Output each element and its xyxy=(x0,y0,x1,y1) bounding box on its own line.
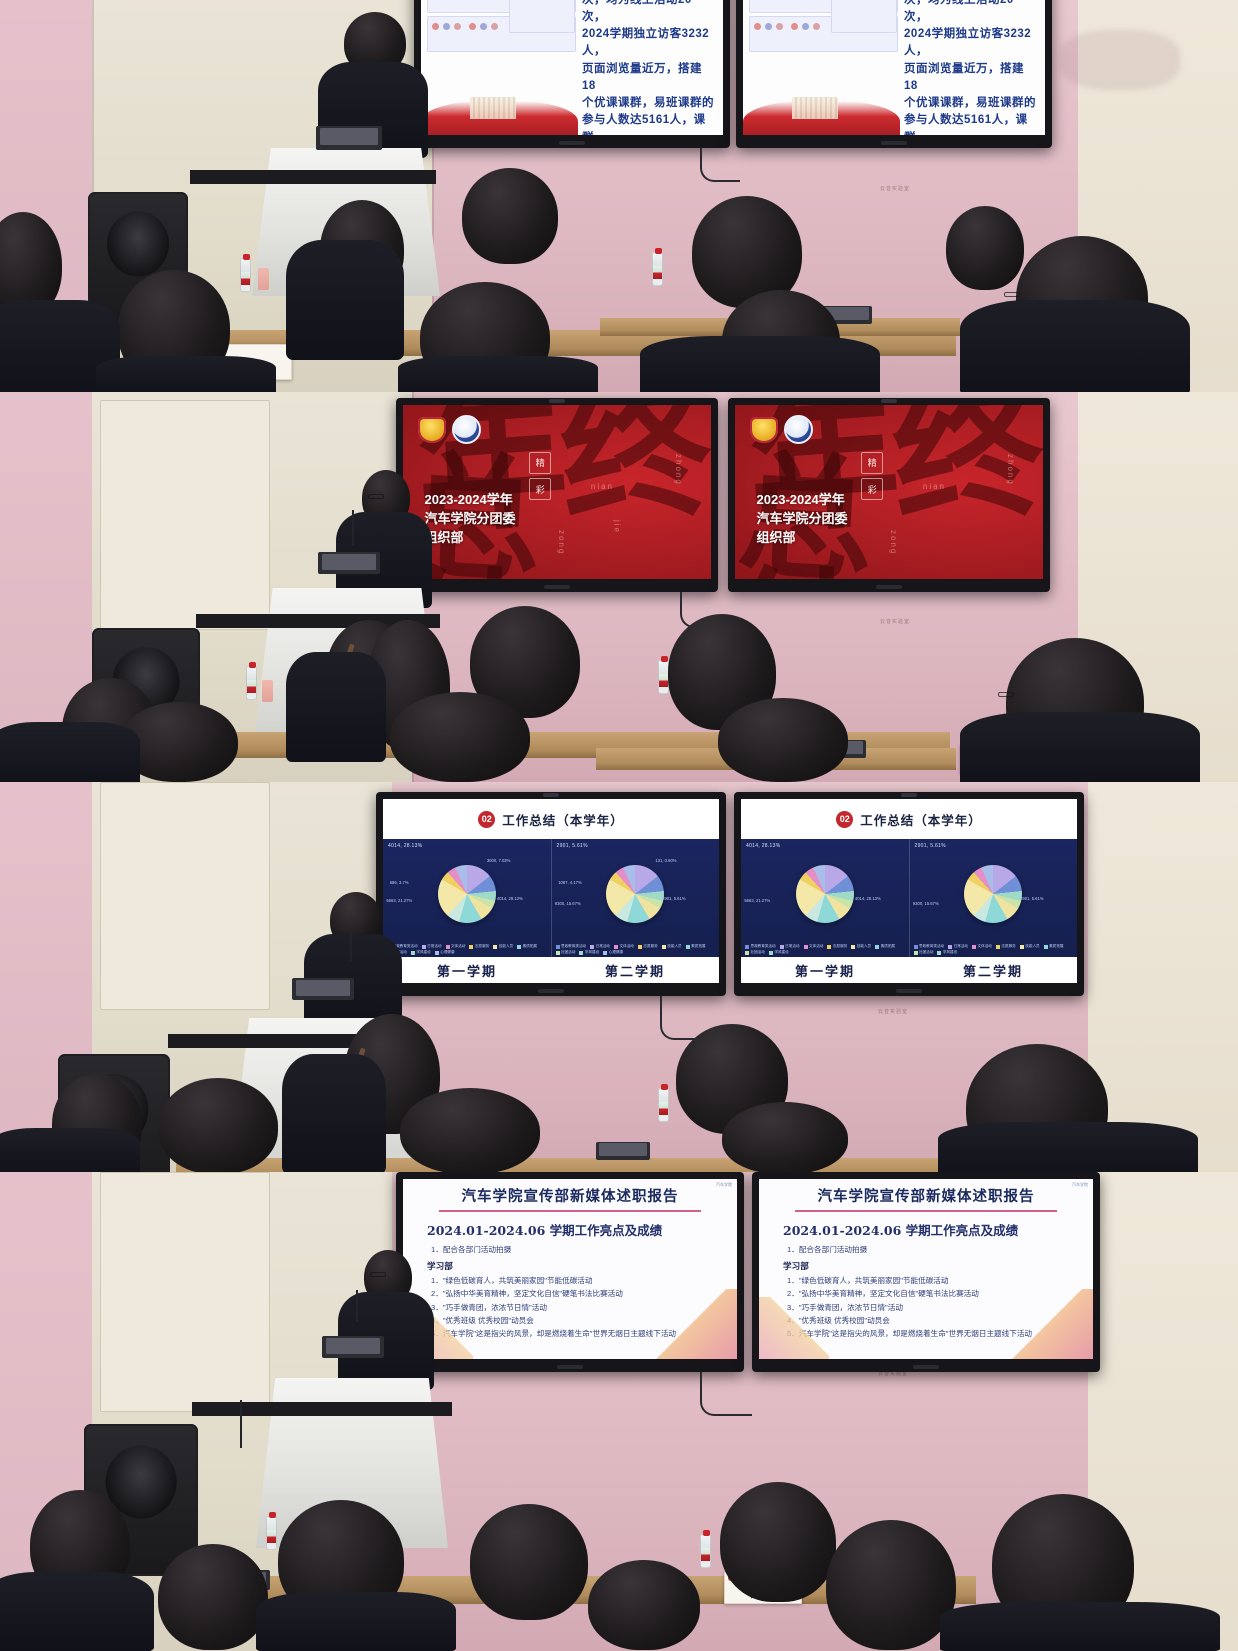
display-right-screen: 年终 总结 nian zhong zong 精 彩 2023-2024学年 汽车… xyxy=(735,405,1043,579)
legend-item: 文体活动 xyxy=(446,944,466,949)
section-number-badge: 02 xyxy=(836,811,853,828)
legend-item: 学风建设 xyxy=(769,950,789,955)
equipment-shelf xyxy=(190,170,436,184)
slide-text-report: 汽车学院 汽车学院宣传部新媒体述职报告 2024.01-2024.06 学期工作… xyxy=(403,1179,737,1359)
section-number-badge: 02 xyxy=(478,811,495,828)
slide-text-report-mirror: 汽车学院 汽车学院宣传部新媒体述职报告 2024.01-2024.06 学期工作… xyxy=(759,1179,1093,1359)
title-underline xyxy=(439,1210,701,1212)
audience-head xyxy=(390,692,530,782)
display-right: 汽车学院 汽车学院宣传部新媒体述职报告 2024.01-2024.06 学期工作… xyxy=(752,1172,1100,1372)
presenter-eyeglasses xyxy=(368,494,384,499)
body-line: 参与人数达5161人，课群 xyxy=(904,112,1037,135)
display-left-screen: 易班班级成绩文数 xyxy=(421,0,723,135)
semester-labels-mirror: 第一学期 第二学期 xyxy=(741,957,1077,983)
audience-head xyxy=(720,1482,836,1602)
pinyin-zong: zong xyxy=(557,530,566,555)
notebook xyxy=(596,1142,650,1160)
mini-screenshot-3 xyxy=(831,0,897,33)
body-line: 参与人数达5161人，课群 xyxy=(582,112,715,135)
display-left: 汽车学院 汽车学院宣传部新媒体述职报告 2024.01-2024.06 学期工作… xyxy=(396,1172,744,1372)
audience-head xyxy=(462,168,558,264)
audience-body xyxy=(286,652,386,762)
display-camera-icon xyxy=(881,399,897,403)
display-camera-icon xyxy=(543,793,559,797)
water-bottle xyxy=(266,1516,277,1550)
podium-laptop xyxy=(322,1336,384,1358)
display-left: 易班班级成绩文数 xyxy=(414,0,730,148)
panel-4-report-slide: 云音实验室 汽车学院 汽车学院宣传部新媒体述职报告 2024.01-2024.0… xyxy=(0,1172,1238,1651)
legend-item: 思政教育类活动 xyxy=(914,944,945,949)
body-line: 2024学期独立访客3232人， xyxy=(582,26,715,61)
campus-illustration xyxy=(792,97,838,119)
corner-decoration-left xyxy=(759,1297,829,1359)
pie-label: 2901, 5.61% xyxy=(662,896,686,901)
pinyin-zhong: zhong xyxy=(674,454,683,486)
slide-body-text-mirror: 本学年总共开展活动30余 次，均为线上活动20次， 2024学期独立访客3232… xyxy=(900,0,1045,135)
wall-right xyxy=(1088,782,1238,1172)
legend-item: 社团活动 xyxy=(556,950,576,955)
report-intro-item: 1．配合各部门活动拍摄 xyxy=(431,1245,727,1255)
display-right: 易班班级成绩文数 xyxy=(736,0,1052,148)
slide-body-text: 本学年总共开展活动30余 次，均为线上活动20次， 2024学期独立访客3232… xyxy=(578,0,723,135)
wall-sign: 云音实验室 xyxy=(878,1008,908,1015)
water-bottle xyxy=(240,258,251,292)
audience-head xyxy=(946,206,1024,290)
semester-label-2: 第二学期 xyxy=(551,957,719,983)
mini-screenshot-3 xyxy=(509,0,575,33)
body-line: 次，均为线上活动20次， xyxy=(582,0,715,26)
semester-label-1: 第一学期 xyxy=(383,957,551,983)
chart-second-semester: 2901, 5.61% 1087, 4.17% 9300, 15.67% 290… xyxy=(551,839,720,957)
corner-decoration-right xyxy=(1003,1289,1093,1359)
pie-chart-1 xyxy=(796,865,854,923)
title-line-year: 2023-2024学年 xyxy=(425,491,516,510)
chart-legend-1: 思政教育类活动 日常活动 文体活动 志愿服务 技能人员 素质拓展 社团活动 学风… xyxy=(387,944,547,955)
pie-label: 131, 0.60% xyxy=(655,858,676,863)
legend-item: 心理健康 xyxy=(603,950,623,955)
pink-thermos xyxy=(258,268,269,290)
wall-sign: 云音实验室 xyxy=(880,618,910,625)
report-title: 汽车学院宣传部新媒体述职报告 xyxy=(413,1185,727,1206)
door xyxy=(100,782,270,1010)
audience-head xyxy=(400,1088,540,1172)
panel-1-data-slide: 云音实验室 易班班级成绩文数 xyxy=(0,0,1238,392)
title-line-org: 汽车学院分团委 xyxy=(757,510,848,529)
microphone xyxy=(352,510,354,546)
legend-item: 素质拓展 xyxy=(517,944,537,949)
seal-jing: 精 xyxy=(529,452,551,474)
podium-laptop xyxy=(292,978,354,1000)
audience-body xyxy=(940,1602,1220,1651)
pie-label: 686, 3.7% xyxy=(390,880,409,885)
display-right-screen: 汽车学院 汽车学院宣传部新媒体述职报告 2024.01-2024.06 学期工作… xyxy=(759,1179,1093,1359)
mic-boom xyxy=(240,1400,242,1448)
pie-label: 3000, 7.03% xyxy=(487,858,511,863)
legend-item: 素质拓展 xyxy=(1044,944,1064,949)
pie-label: 2901, 5.61% xyxy=(1020,896,1044,901)
pinyin-jie: jie xyxy=(612,520,621,534)
legend-item: 学风建设 xyxy=(937,950,957,955)
legend-item: 思政教育类活动 xyxy=(556,944,587,949)
slide-pie-charts-mirror: 02 工作总结（本学年） 4014, 28.13% 5663, 21.27% 4… xyxy=(741,799,1077,983)
body-line: 个优课课群，易班课群的 xyxy=(582,95,715,112)
report-item: 1．"绿色低碳育人，共筑美丽家园"节能低碳活动 xyxy=(431,1276,727,1286)
body-line: 个优课课群，易班课群的 xyxy=(904,95,1037,112)
legend-item: 学风建设 xyxy=(411,950,431,955)
water-bottle-2 xyxy=(652,252,663,286)
seal-cai: 彩 xyxy=(861,478,883,500)
pie-label: 5663, 21.27% xyxy=(744,898,770,903)
slide-pie-charts: 02 工作总结（本学年） 4014, 28.13% 686, 3.7% 5663… xyxy=(383,799,719,983)
pie-chart-1 xyxy=(438,865,496,923)
photo-collage: 云音实验室 易班班级成绩文数 xyxy=(0,0,1238,1651)
slide-title-block-mirror: 2023-2024学年 汽车学院分团委 组织部 xyxy=(757,491,848,548)
audience-head xyxy=(158,1078,278,1172)
pink-thermos xyxy=(262,680,273,702)
podium-laptop xyxy=(318,552,380,574)
legend-item: 文体活动 xyxy=(614,944,634,949)
audience-head xyxy=(158,1544,268,1650)
report-department: 学习部 xyxy=(427,1260,727,1272)
equipment-shelf xyxy=(192,1402,452,1416)
display-camera-icon xyxy=(549,399,565,403)
audience-body xyxy=(960,712,1200,782)
report-title: 汽车学院宣传部新媒体述职报告 xyxy=(769,1185,1083,1206)
display-left-screen: 年终 总结 nian zhong zong jie 精 彩 2023-2024学… xyxy=(403,405,711,579)
microphone xyxy=(350,932,352,962)
legend-item: 社团活动 xyxy=(914,950,934,955)
pinyin-zhong: zhong xyxy=(1006,454,1015,486)
legend-item: 学风建设 xyxy=(579,950,599,955)
legend-item: 技能人员 xyxy=(662,944,682,949)
legend-item: 社团活动 xyxy=(745,950,765,955)
slide-header: 02 工作总结（本学年） xyxy=(383,799,719,839)
legend-item: 技能人员 xyxy=(1020,944,1040,949)
corner-decoration-right xyxy=(647,1289,737,1359)
audience-body xyxy=(398,356,598,392)
panel-2-title-slide: 云音实验室 云音实验室 年终 总结 nian zhong zong jie 精 … xyxy=(0,392,1238,782)
section-title: 工作总结（本学年） xyxy=(502,810,624,829)
report-item: 1．"绿色低碳育人，共筑美丽家园"节能低碳活动 xyxy=(787,1276,1083,1286)
legend-item: 志愿服务 xyxy=(827,944,847,949)
slide-header-mirror: 02 工作总结（本学年） xyxy=(741,799,1077,839)
slide-tag: 汽车学院 xyxy=(716,1182,732,1188)
audience-body xyxy=(0,1128,140,1172)
audience-body xyxy=(0,722,140,782)
title-underline xyxy=(795,1210,1057,1212)
microphone xyxy=(356,1290,358,1322)
eyeglasses xyxy=(1004,292,1020,297)
semester-label-1: 第一学期 xyxy=(741,957,909,983)
seal-cai: 彩 xyxy=(529,478,551,500)
semester-label-2: 第二学期 xyxy=(909,957,1077,983)
audience-body xyxy=(286,240,404,360)
slide-screenshots-mirror xyxy=(743,0,900,135)
slide-red-title-mirror: 年终 总结 nian zhong zong 精 彩 2023-2024学年 汽车… xyxy=(735,405,1043,579)
pie-chart-2 xyxy=(964,865,1022,923)
legend-item: 文体活动 xyxy=(972,944,992,949)
report-subtitle: 2024.01-2024.06 学期工作亮点及成绩 xyxy=(783,1220,1083,1239)
legend-item: 志愿服务 xyxy=(469,944,489,949)
chart-second-semester-mirror: 2901, 5.61% 9300, 15.67% 2901, 5.61% 思政教… xyxy=(909,839,1078,957)
display-right: 年终 总结 nian zhong zong 精 彩 2023-2024学年 汽车… xyxy=(728,398,1050,592)
display-left-screen: 02 工作总结（本学年） 4014, 28.13% 686, 3.7% 5663… xyxy=(383,799,719,983)
title-line-dept: 组织部 xyxy=(757,529,848,548)
wall-smudge xyxy=(1060,30,1180,90)
chart-first-semester: 4014, 28.13% 686, 3.7% 5663, 21.27% 4014… xyxy=(383,839,551,957)
audience-body xyxy=(960,300,1190,392)
pie-label: 4014, 28.13% xyxy=(855,896,881,901)
display-left: 02 工作总结（本学年） 4014, 28.13% 686, 3.7% 5663… xyxy=(376,792,726,996)
body-line: 2024学期独立访客3232人， xyxy=(904,26,1037,61)
chart-caption: 2901, 5.61% xyxy=(915,843,1073,849)
audience-body xyxy=(640,336,880,392)
slide-data-report: 易班班级成绩文数 xyxy=(421,0,723,135)
body-line: 次，均为线上活动20次， xyxy=(904,0,1037,26)
slide-red-title: 年终 总结 nian zhong zong jie 精 彩 2023-2024学… xyxy=(403,405,711,579)
chart-legend-2: 思政教育类活动 日常活动 文体活动 志愿服务 技能人员 素质拓展 社团活动 学风… xyxy=(556,944,716,955)
display-right-screen: 易班班级成绩文数 xyxy=(743,0,1045,135)
display-cable xyxy=(700,148,740,182)
slide-title-block: 2023-2024学年 汽车学院分团委 组织部 xyxy=(425,491,516,548)
audience-body xyxy=(938,1122,1198,1172)
pie-chart-2 xyxy=(606,865,664,923)
audience-head xyxy=(826,1520,956,1650)
title-line-year: 2023-2024学年 xyxy=(757,491,848,510)
presenter-eyeglasses xyxy=(370,1272,386,1277)
seal-jing: 精 xyxy=(861,452,883,474)
water-bottle xyxy=(246,666,257,700)
report-subtitle: 2024.01-2024.06 学期工作亮点及成绩 xyxy=(427,1220,727,1239)
audience-body xyxy=(282,1054,386,1172)
slide-data-report-mirror: 易班班级成绩文数 xyxy=(743,0,1045,135)
legend-item: 心理健康 xyxy=(435,950,455,955)
pie-label: 1087, 4.17% xyxy=(558,880,582,885)
pie-label: 9300, 15.67% xyxy=(913,901,939,906)
audience-head xyxy=(722,1102,848,1172)
legend-item: 日常活动 xyxy=(590,944,610,949)
display-cable xyxy=(700,1372,752,1416)
audience-body xyxy=(256,1592,456,1651)
pinyin-nian: nian xyxy=(923,482,946,491)
legend-item: 技能人员 xyxy=(851,944,871,949)
legend-item: 日常活动 xyxy=(780,944,800,949)
panel-3-chart-slide: 云音实验室 02 工作总结（本学年） 4014, 28.13% 686, 3.7… xyxy=(0,782,1238,1172)
legend-item: 日常活动 xyxy=(422,944,442,949)
chart-caption: 4014, 28.13% xyxy=(746,843,904,849)
section-title: 工作总结（本学年） xyxy=(860,810,982,829)
audience-head xyxy=(718,698,848,782)
body-line: 页面浏览量近万，搭建18 xyxy=(582,61,715,96)
podium-laptop xyxy=(316,126,382,150)
audience-head xyxy=(588,1560,700,1650)
title-line-org: 汽车学院分团委 xyxy=(425,510,516,529)
slide-screenshots xyxy=(421,0,578,135)
pie-label: 4014, 28.13% xyxy=(497,896,523,901)
legend-item: 日常活动 xyxy=(948,944,968,949)
report-intro-item: 1．配合各部门活动拍摄 xyxy=(787,1245,1083,1255)
chart-caption: 2901, 5.61% xyxy=(557,843,715,849)
water-bottle-2 xyxy=(700,1534,711,1568)
slide-tag: 汽车学院 xyxy=(1072,1182,1088,1188)
chart-board-mirror: 4014, 28.13% 5663, 21.27% 4014, 28.13% 思… xyxy=(741,839,1077,957)
display-right: 02 工作总结（本学年） 4014, 28.13% 5663, 21.27% 4… xyxy=(734,792,1084,996)
legend-item: 素质拓展 xyxy=(686,944,706,949)
pinyin-zong: zong xyxy=(889,530,898,555)
display-left-screen: 汽车学院 汽车学院宣传部新媒体述职报告 2024.01-2024.06 学期工作… xyxy=(403,1179,737,1359)
pie-label: 9300, 15.67% xyxy=(555,901,581,906)
legend-item: 志愿服务 xyxy=(638,944,658,949)
chart-caption: 4014, 28.13% xyxy=(388,843,546,849)
legend-item: 志愿服务 xyxy=(996,944,1016,949)
semester-labels: 第一学期 第二学期 xyxy=(383,957,719,983)
wall-sign: 云音实验室 xyxy=(880,185,910,192)
chart-board: 4014, 28.13% 686, 3.7% 5663, 21.27% 4014… xyxy=(383,839,719,957)
display-camera-icon xyxy=(901,793,917,797)
pie-label: 5663, 21.27% xyxy=(386,898,412,903)
report-department: 学习部 xyxy=(783,1260,1083,1272)
legend-item: 思政教育类活动 xyxy=(745,944,776,949)
chart-legend-1-mirror: 思政教育类活动 日常活动 文体活动 志愿服务 技能人员 素质拓展 社团活动 学风… xyxy=(745,944,905,955)
chart-first-semester-mirror: 4014, 28.13% 5663, 21.27% 4014, 28.13% 思… xyxy=(741,839,909,957)
body-line: 页面浏览量近万，搭建18 xyxy=(904,61,1037,96)
legend-item: 技能人员 xyxy=(493,944,513,949)
display-right-screen: 02 工作总结（本学年） 4014, 28.13% 5663, 21.27% 4… xyxy=(741,799,1077,983)
eyeglasses xyxy=(998,692,1014,697)
display-left: 年终 总结 nian zhong zong jie 精 彩 2023-2024学… xyxy=(396,398,718,592)
pinyin-nian: nian xyxy=(591,482,614,491)
water-bottle-2 xyxy=(658,1088,669,1122)
legend-item: 文体活动 xyxy=(804,944,824,949)
audience-body xyxy=(0,1572,154,1651)
audience-head xyxy=(470,1504,588,1620)
title-line-dept: 组织部 xyxy=(425,529,516,548)
audience-body xyxy=(96,356,276,392)
chart-legend-2-mirror: 思政教育类活动 日常活动 文体活动 志愿服务 技能人员 素质拓展 社团活动 学风… xyxy=(914,944,1074,955)
legend-item: 素质拓展 xyxy=(875,944,895,949)
campus-illustration xyxy=(470,97,516,119)
door xyxy=(100,1172,270,1412)
door xyxy=(100,400,270,630)
